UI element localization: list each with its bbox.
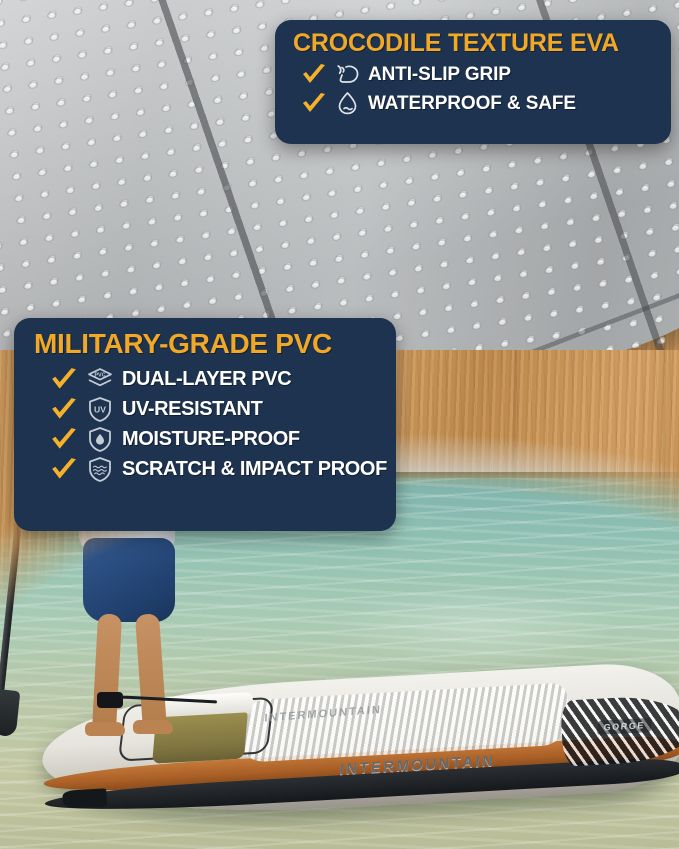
paddler-foot-right xyxy=(133,720,173,734)
check-icon xyxy=(50,427,78,453)
feature-label: ANTI-SLIP GRIP xyxy=(368,64,511,86)
pvc-icon-text: PVC xyxy=(94,373,105,379)
feature-anti-slip-grip: ANTI-SLIP GRIP xyxy=(301,62,655,87)
feature-label: WATERPROOF & SAFE xyxy=(368,93,576,115)
uv-shield-icon: UV xyxy=(85,396,115,423)
infographic-canvas: INTERMOUNTAIN INTERMOUNTAIN GORGE CROCOD… xyxy=(0,0,679,849)
feature-label: SCRATCH & IMPACT PROOF xyxy=(122,458,387,481)
footprint-icon xyxy=(334,62,361,87)
callout-military-grade-pvc: MILITARY-GRADE PVC PVC DUAL-LAYER PVC UV xyxy=(14,318,396,531)
paddler-shorts xyxy=(83,538,175,622)
scratch-shield-icon xyxy=(85,456,115,483)
droplet-shield-icon xyxy=(85,426,115,453)
water-drop-icon xyxy=(334,91,361,116)
check-icon xyxy=(50,367,78,393)
feature-label: MOISTURE-PROOF xyxy=(122,428,300,451)
ankle-leash-cuff xyxy=(97,692,123,708)
paddler-foot-left xyxy=(85,722,125,736)
feature-uv-resistant: UV UV-RESISTANT xyxy=(50,396,380,423)
callout-eva-title: CROCODILE TEXTURE EVA xyxy=(293,29,655,57)
uv-icon-text: UV xyxy=(94,405,106,415)
check-icon xyxy=(50,397,78,423)
layers-pvc-icon: PVC xyxy=(85,366,115,393)
callout-pvc-title: MILITARY-GRADE PVC xyxy=(34,328,380,359)
feature-label: UV-RESISTANT xyxy=(122,398,262,421)
feature-moisture-proof: MOISTURE-PROOF xyxy=(50,426,380,453)
feature-scratch-impact-proof: SCRATCH & IMPACT PROOF xyxy=(50,456,380,483)
feature-label: DUAL-LAYER PVC xyxy=(122,368,291,391)
feature-waterproof-safe: WATERPROOF & SAFE xyxy=(301,91,655,116)
check-icon xyxy=(301,92,327,116)
callout-crocodile-texture-eva: CROCODILE TEXTURE EVA ANTI-SLIP GRIP xyxy=(275,20,671,144)
check-icon xyxy=(50,457,78,483)
board-fin xyxy=(62,788,107,808)
check-icon xyxy=(301,63,327,87)
feature-dual-layer-pvc: PVC DUAL-LAYER PVC xyxy=(50,366,380,393)
